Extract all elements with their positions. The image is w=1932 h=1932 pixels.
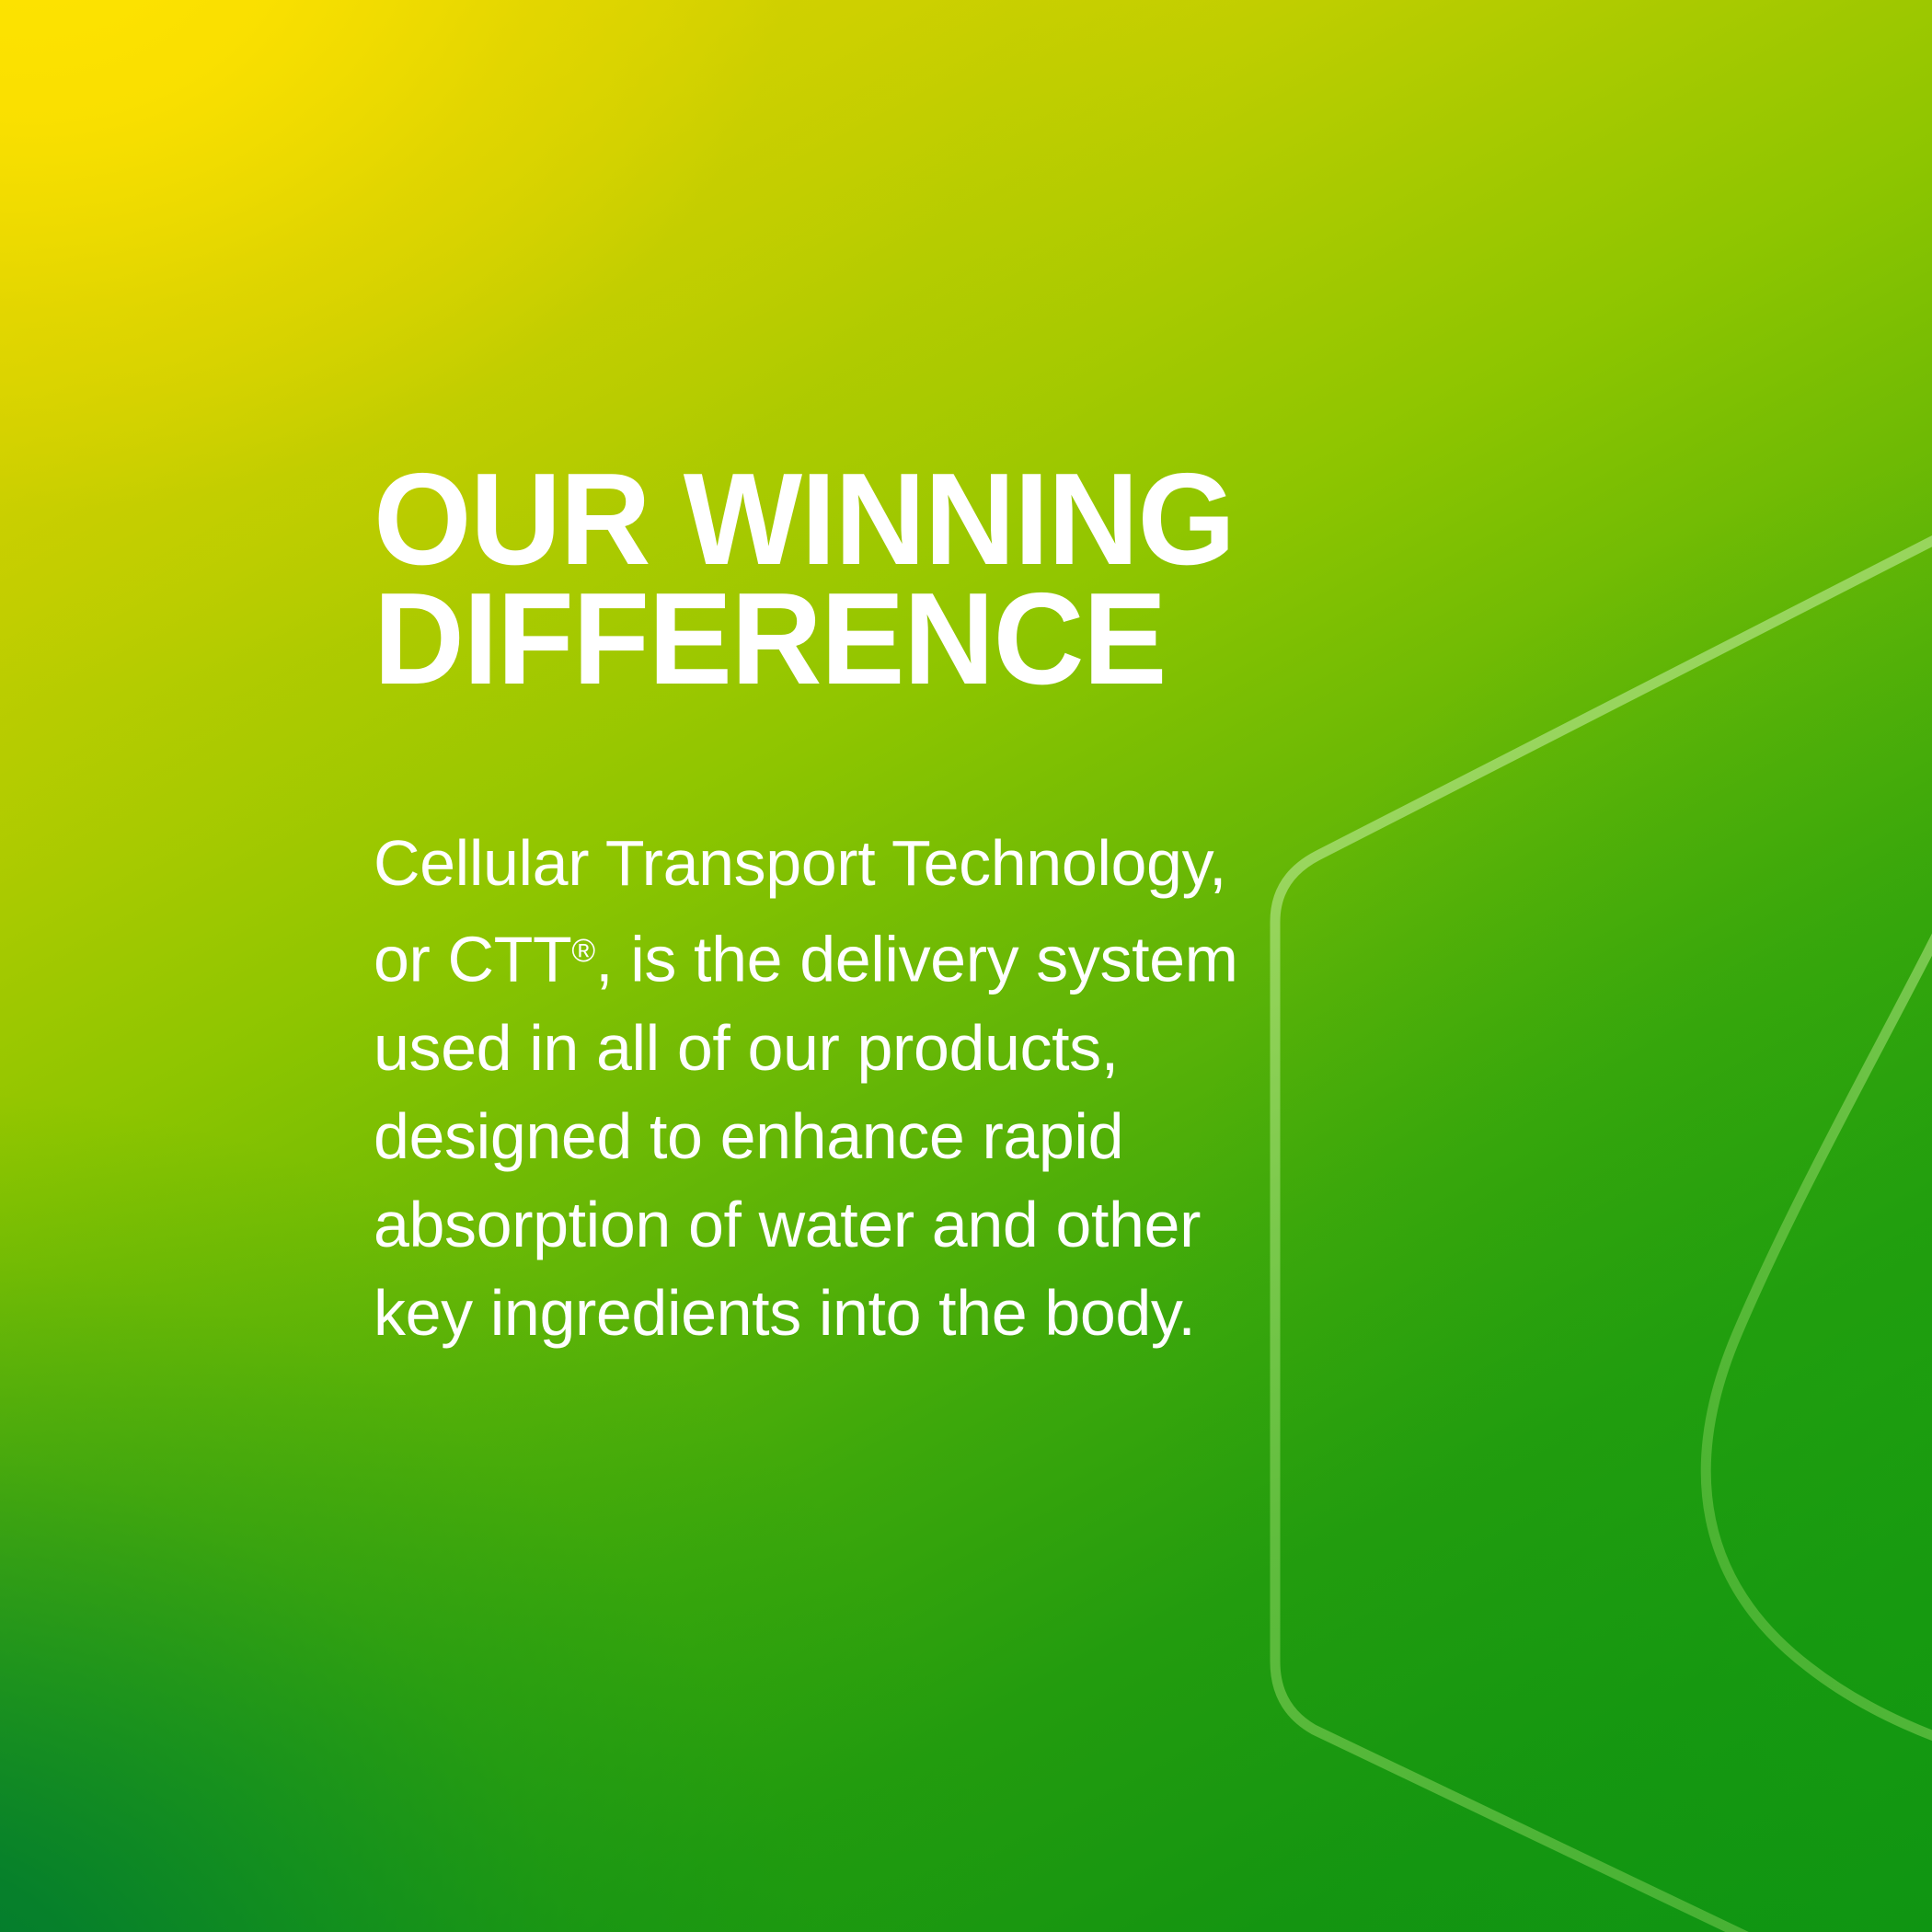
body-paragraph: Cellular Transport Technology, or CTT®, … xyxy=(374,819,1579,1357)
promo-card: OUR WINNING DIFFERENCE Cellular Transpor… xyxy=(0,0,1932,1932)
content-block: OUR WINNING DIFFERENCE Cellular Transpor… xyxy=(374,0,1588,1932)
registered-trademark-symbol: ® xyxy=(571,933,595,969)
page-title: OUR WINNING DIFFERENCE xyxy=(374,460,1235,699)
